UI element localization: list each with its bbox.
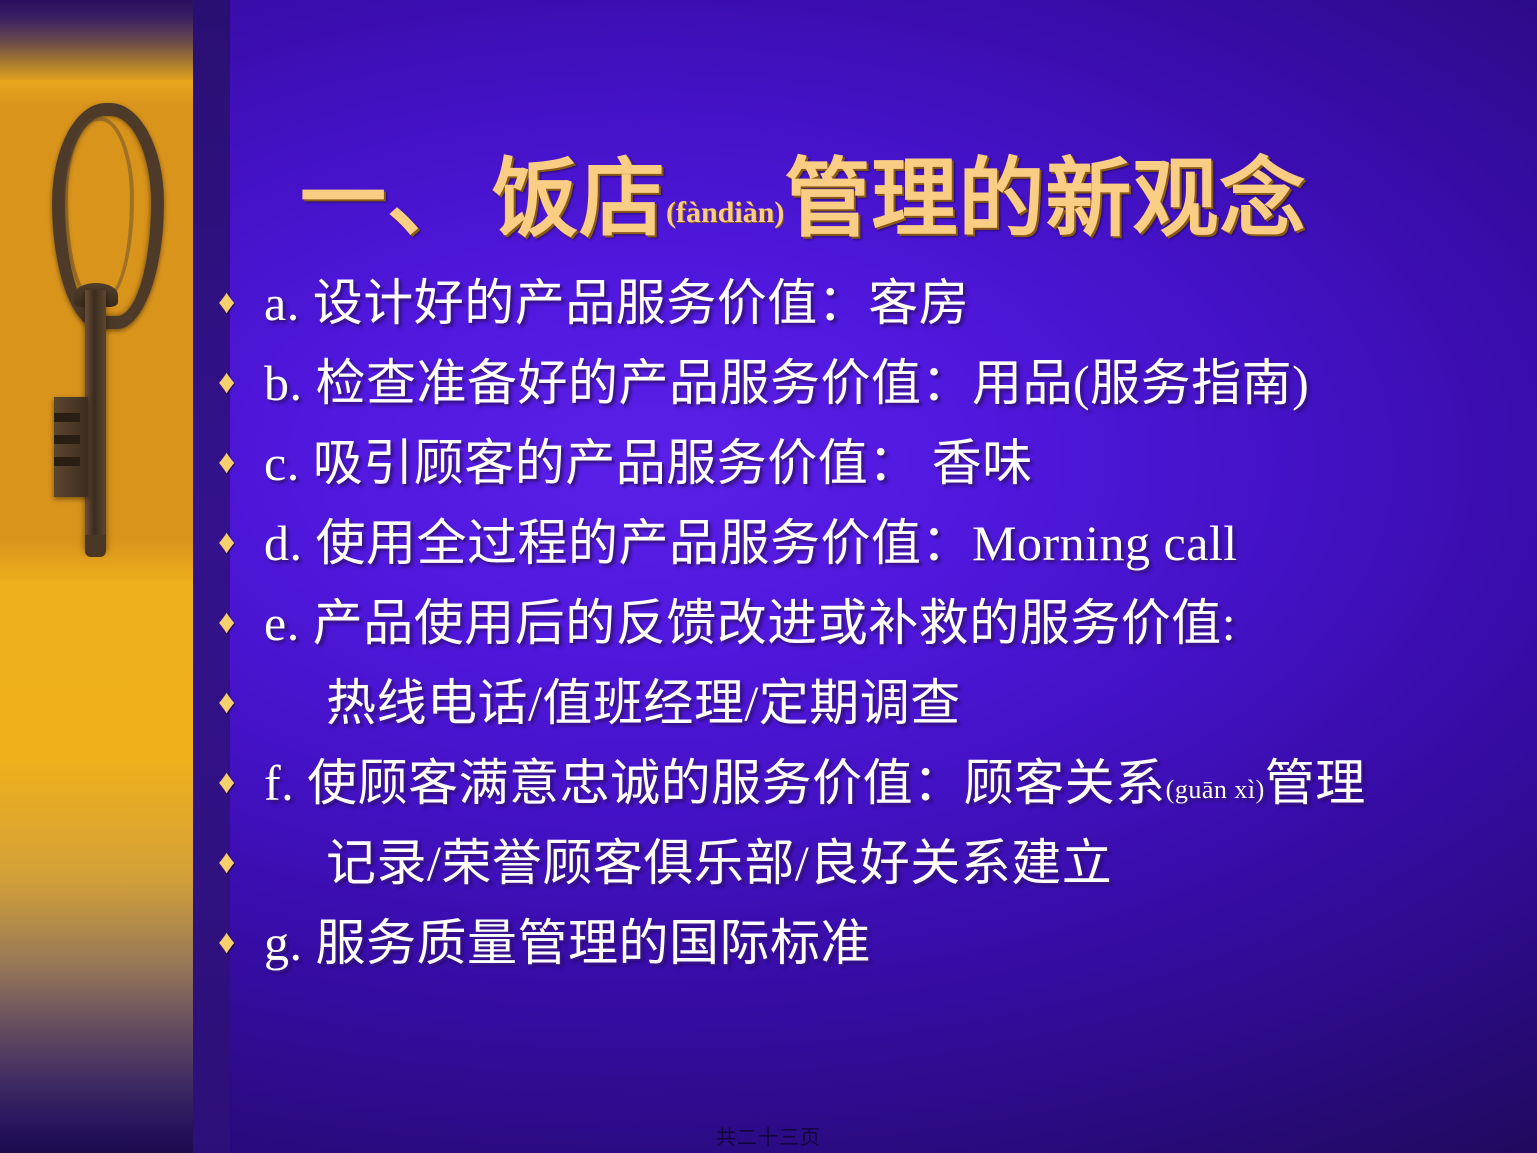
title-suffix: 管理的新观念 bbox=[784, 151, 1306, 247]
bullet-list: ♦ a. 设计好的产品服务价值：客房 ♦ b. 检查准备好的产品服务价值：用品(… bbox=[218, 272, 1518, 992]
list-item: ♦ 记录/荣誉顾客俱乐部/良好关系建立 bbox=[218, 832, 1518, 912]
list-item: ♦ d. 使用全过程的产品服务价值：Morning call bbox=[218, 512, 1518, 592]
diamond-bullet-icon: ♦ bbox=[218, 912, 264, 974]
key-bow-inner bbox=[64, 117, 134, 301]
diamond-bullet-icon: ♦ bbox=[218, 592, 264, 654]
list-item: ♦ g. 服务质量管理的国际标准 bbox=[218, 912, 1518, 992]
presentation-slide: 一、饭店(fàndiàn)管理的新观念 ♦ a. 设计好的产品服务价值：客房 ♦… bbox=[0, 0, 1537, 1153]
list-item-text: b. 检查准备好的产品服务价值：用品(服务指南) bbox=[264, 352, 1518, 414]
diamond-bullet-icon: ♦ bbox=[218, 352, 264, 414]
slide-page-footer: 共二十三页 bbox=[0, 1121, 1537, 1150]
key-tooth bbox=[54, 435, 80, 444]
slide-title: 一、饭店(fàndiàn)管理的新观念 bbox=[300, 154, 1520, 245]
list-item-text: g. 服务质量管理的国际标准 bbox=[264, 912, 1518, 974]
diamond-bullet-icon: ♦ bbox=[218, 432, 264, 494]
antique-key-icon bbox=[0, 95, 193, 565]
diamond-bullet-icon: ♦ bbox=[218, 752, 264, 814]
list-item: ♦ c. 吸引顾客的产品服务价值： 香味 bbox=[218, 432, 1518, 512]
diamond-bullet-icon: ♦ bbox=[218, 272, 264, 334]
key-shaft bbox=[85, 290, 106, 550]
list-item-text: 热线电话/值班经理/定期调查 bbox=[264, 672, 1518, 734]
list-item-ruby-annotation: (guān xì) bbox=[1166, 775, 1265, 804]
title-ruby-annotation: (fàndiàn) bbox=[666, 196, 784, 229]
diamond-bullet-icon: ♦ bbox=[218, 512, 264, 574]
key-ward bbox=[54, 397, 88, 497]
list-item: ♦ a. 设计好的产品服务价值：客房 bbox=[218, 272, 1518, 352]
list-item: ♦ e. 产品使用后的反馈改进或补救的服务价值: bbox=[218, 592, 1518, 672]
key-tooth bbox=[54, 457, 80, 466]
list-item-text: 记录/荣誉顾客俱乐部/良好关系建立 bbox=[264, 832, 1518, 894]
list-item: ♦ 热线电话/值班经理/定期调查 bbox=[218, 672, 1518, 752]
sidebar-decoration-panel bbox=[0, 0, 193, 1153]
title-word: 饭店 bbox=[492, 151, 666, 247]
list-item-text: a. 设计好的产品服务价值：客房 bbox=[264, 272, 1518, 334]
list-item-text-group: f. 使顾客满意忠诚的服务价值：顾客关系(guān xì)管理 bbox=[264, 752, 1518, 821]
list-item-text: c. 吸引顾客的产品服务价值： 香味 bbox=[264, 432, 1518, 494]
key-tooth bbox=[54, 413, 80, 422]
list-item-text: f. 使顾客满意忠诚的服务价值：顾客关系 bbox=[264, 755, 1166, 811]
list-item-text-tail: 管理 bbox=[1265, 755, 1366, 811]
list-item-text: e. 产品使用后的反馈改进或补救的服务价值: bbox=[264, 592, 1518, 654]
list-item-text: d. 使用全过程的产品服务价值：Morning call bbox=[264, 512, 1518, 574]
diamond-bullet-icon: ♦ bbox=[218, 672, 264, 734]
key-shaft-tip bbox=[85, 535, 106, 557]
diamond-bullet-icon: ♦ bbox=[218, 832, 264, 894]
list-item: ♦ f. 使顾客满意忠诚的服务价值：顾客关系(guān xì)管理 bbox=[218, 752, 1518, 832]
list-item: ♦ b. 检查准备好的产品服务价值：用品(服务指南) bbox=[218, 352, 1518, 432]
title-prefix: 一、 bbox=[300, 151, 474, 247]
